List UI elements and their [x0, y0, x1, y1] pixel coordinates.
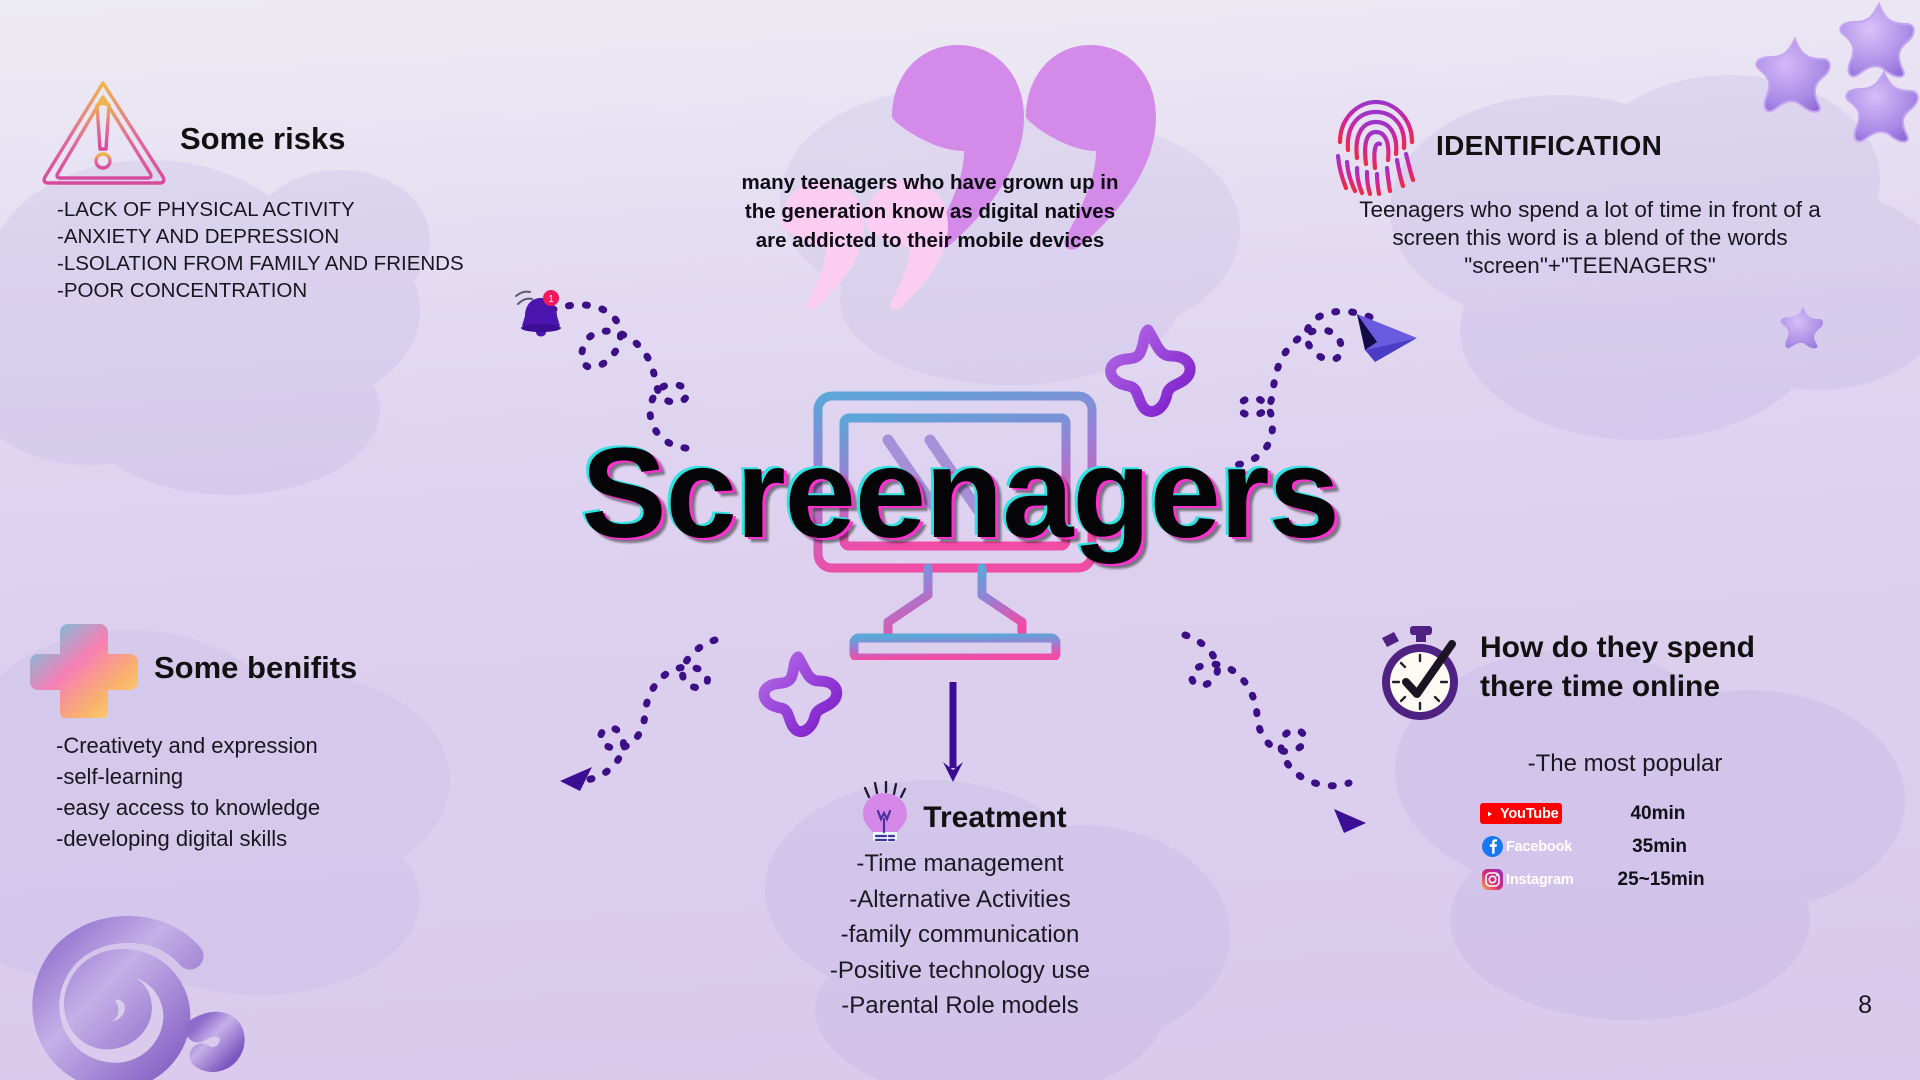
- table-row: YouTube 40min: [1480, 800, 1840, 827]
- time-online-header: How do they spend there time online: [1370, 620, 1840, 726]
- identification-text: Teenagers who spend a lot of time in fro…: [1320, 196, 1860, 280]
- slide-canvas: 1: [0, 0, 1920, 1080]
- risks-header: Some risks: [40, 96, 510, 182]
- facebook-time: 35min: [1632, 836, 1687, 858]
- treatment-item: -family communication: [760, 917, 1160, 953]
- treatment-header: Treatment: [760, 790, 1160, 846]
- youtube-time: 40min: [1630, 803, 1685, 825]
- identification-header: IDENTIFICATION: [1320, 100, 1860, 192]
- youtube-badge: YouTube: [1480, 803, 1562, 824]
- spiral-swirl-shape: [0, 880, 270, 1080]
- benefits-header: Some benifits: [30, 620, 500, 716]
- notification-bell-icon: 1: [512, 288, 570, 344]
- instagram-time: 25~15min: [1618, 869, 1705, 891]
- risks-item: -LSOLATION FROM FAMILY AND FRIENDS: [57, 250, 510, 277]
- risks-item: -POOR CONCENTRATION: [57, 277, 510, 304]
- page-number: 8: [1858, 991, 1872, 1020]
- time-online-subtitle: -The most popular: [1370, 750, 1840, 778]
- intro-quote: many teenagers who have grown up in the …: [690, 168, 1170, 255]
- benefits-item: -self-learning: [56, 761, 500, 792]
- instagram-badge: Instagram: [1480, 869, 1578, 890]
- identification-line: Teenagers who spend a lot of time in fro…: [1320, 196, 1860, 224]
- identification-section: IDENTIFICATION Teenagers who spend a lot…: [1320, 100, 1860, 280]
- benefits-item: -easy access to knowledge: [56, 792, 500, 823]
- stopwatch-icon: [1370, 622, 1470, 726]
- quote-line: many teenagers who have grown up in: [690, 168, 1170, 197]
- treatment-item: -Alternative Activities: [760, 882, 1160, 918]
- plus-cross-icon: [30, 618, 138, 718]
- outline-star-upper-right: [1095, 322, 1200, 422]
- time-online-title-line: there time online: [1480, 667, 1755, 706]
- fingerprint-icon: [1330, 96, 1422, 196]
- quote-line: the generation know as digital natives: [690, 197, 1170, 226]
- svg-text:1: 1: [548, 294, 554, 305]
- arrow-head-bottom-left: [558, 765, 594, 793]
- quote-line: are addicted to their mobile devices: [690, 226, 1170, 255]
- facebook-badge: Facebook: [1480, 836, 1576, 857]
- risks-item: -LACK OF PHYSICAL ACTIVITY: [57, 196, 510, 223]
- down-arrow-icon: [940, 680, 966, 785]
- page-title: Screenagers: [0, 430, 1920, 558]
- risks-item: -ANXIETY AND DEPRESSION: [57, 223, 510, 250]
- instagram-icon: [1482, 869, 1503, 890]
- time-online-section: How do they spend there time online -The…: [1370, 620, 1840, 894]
- treatment-item: -Positive technology use: [760, 953, 1160, 989]
- identification-line: "screen"+"TEENAGERS": [1320, 252, 1860, 280]
- treatment-list: -Time management -Alternative Activities…: [760, 846, 1160, 1024]
- youtube-icon: [1482, 808, 1497, 820]
- time-online-title-line: How do they spend: [1480, 628, 1755, 667]
- facebook-label: Facebook: [1506, 839, 1572, 855]
- puffy-star-2: [1838, 0, 1920, 80]
- outline-star-lower-left: [750, 650, 845, 742]
- treatment-item: -Parental Role models: [760, 988, 1160, 1024]
- table-row: Instagram 25~15min: [1480, 866, 1840, 893]
- arrow-head-bottom-right: [1330, 805, 1368, 835]
- identification-title: IDENTIFICATION: [1436, 130, 1662, 162]
- treatment-title: Treatment: [923, 801, 1066, 835]
- instagram-label: Instagram: [1506, 872, 1574, 888]
- risks-list: -LACK OF PHYSICAL ACTIVITY -ANXIETY AND …: [40, 196, 510, 304]
- time-online-title: How do they spend there time online: [1480, 620, 1755, 706]
- dotted-curve-path-bottom-left: [555, 630, 755, 810]
- facebook-icon: [1482, 836, 1503, 857]
- benefits-item: -developing digital skills: [56, 823, 500, 854]
- paper-plane-icon: [1355, 308, 1419, 366]
- benefits-list: -Creativety and expression -self-learnin…: [30, 730, 500, 854]
- treatment-section: Treatment -Time management -Alternative …: [760, 790, 1160, 1024]
- puffy-star-4: [1780, 305, 1826, 350]
- dotted-curve-path-bottom-right: [1155, 625, 1365, 825]
- benefits-item: -Creativety and expression: [56, 730, 500, 761]
- table-row: Facebook 35min: [1480, 833, 1840, 860]
- treatment-item: -Time management: [760, 846, 1160, 882]
- risks-section: Some risks -LACK OF PHYSICAL ACTIVITY -A…: [40, 96, 510, 304]
- benefits-title: Some benifits: [154, 650, 357, 686]
- warning-triangle-icon: [40, 77, 168, 187]
- risks-title: Some risks: [180, 121, 345, 157]
- benefits-section: Some benifits -Creativety and expression…: [30, 620, 500, 854]
- youtube-label: YouTube: [1500, 806, 1558, 822]
- social-platform-table: YouTube 40min Facebook 35min: [1370, 800, 1840, 893]
- lightbulb-icon: [853, 778, 915, 844]
- identification-line: screen this word is a blend of the words: [1320, 224, 1860, 252]
